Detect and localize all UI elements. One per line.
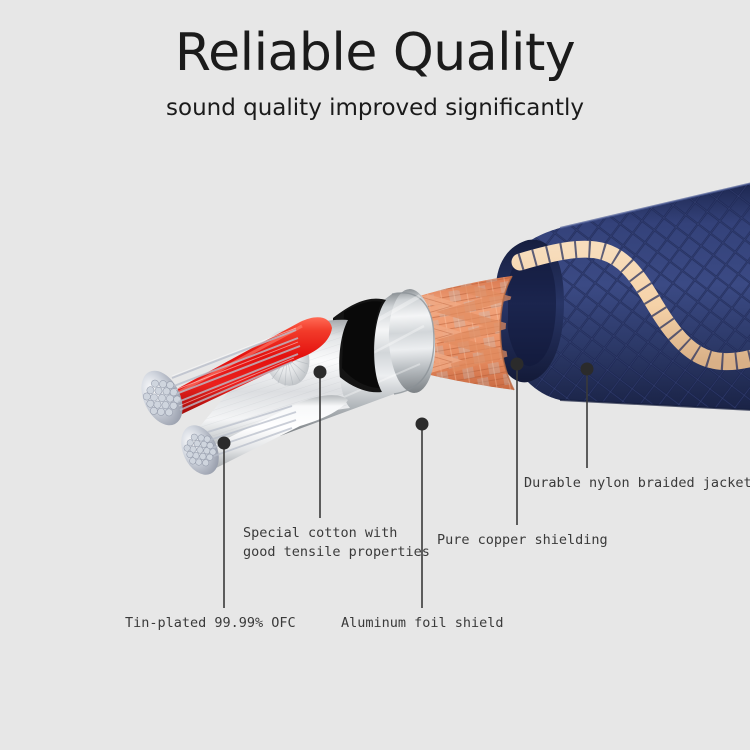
leader-aluminum-foil-shield — [416, 418, 429, 609]
callout-label-special-cotton: Special cotton withgood tensile properti… — [243, 524, 430, 561]
callout-label-nylon-jacket: Durable nylon braided jacket — [524, 474, 750, 493]
nylon-braided-jacket — [496, 183, 750, 410]
callout-label-special-cotton-line2: good tensile properties — [243, 544, 430, 560]
callout-label-aluminum-foil-shield: Aluminum foil shield — [341, 614, 504, 633]
page-title: Reliable Quality — [0, 26, 750, 81]
product-feature-image: Reliable Quality sound quality improved … — [0, 0, 750, 750]
leader-pure-copper-shielding — [511, 358, 524, 526]
page-subtitle: sound quality improved significantly — [0, 95, 750, 121]
callout-label-copper-shielding: Pure copper shielding — [437, 531, 608, 550]
callout-label-special-cotton-line1: Special cotton with — [243, 525, 397, 541]
callout-label-tin-plated-ofc: Tin-plated 99.99% OFC — [125, 614, 296, 633]
